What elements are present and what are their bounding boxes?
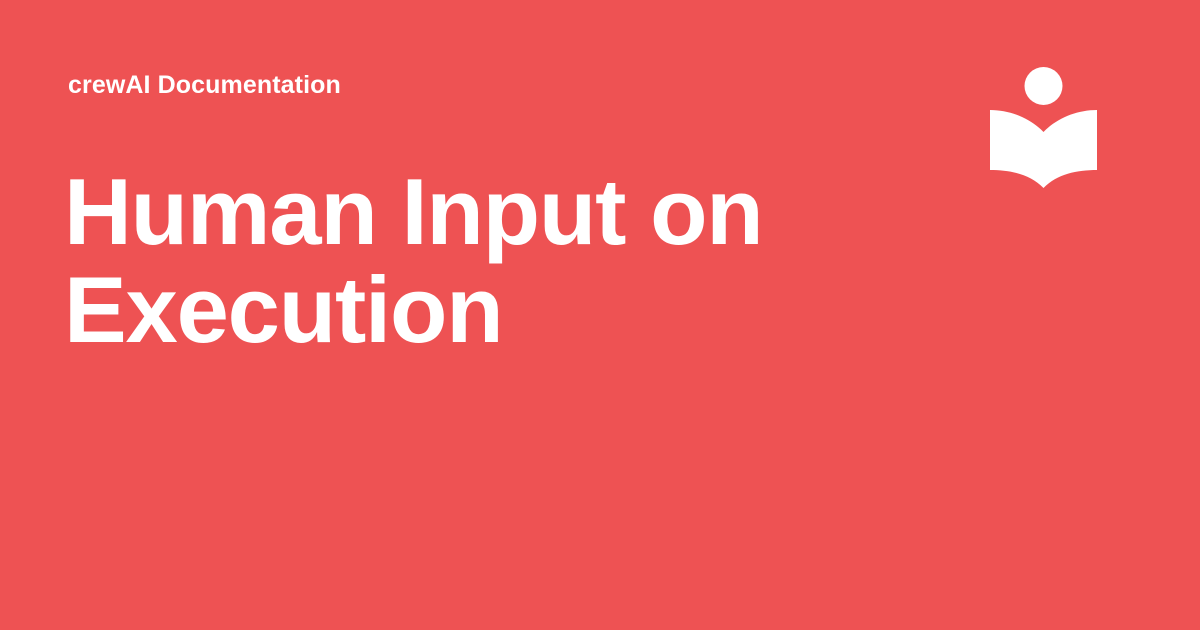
og-preview-card: crewAI Documentation Human Input on Exec… — [0, 0, 1200, 630]
page-title-line-1: Human Input on — [64, 163, 864, 261]
logo-head-circle — [1025, 67, 1063, 105]
logo-book-right-page — [1044, 110, 1098, 188]
logo-book-left-page — [990, 110, 1044, 188]
breadcrumb-eyebrow: crewAI Documentation — [68, 73, 341, 98]
page-title-line-2: Execution — [64, 261, 864, 359]
page-title: Human Input on Execution — [64, 163, 864, 359]
open-book-reader-logo-icon — [988, 64, 1100, 192]
